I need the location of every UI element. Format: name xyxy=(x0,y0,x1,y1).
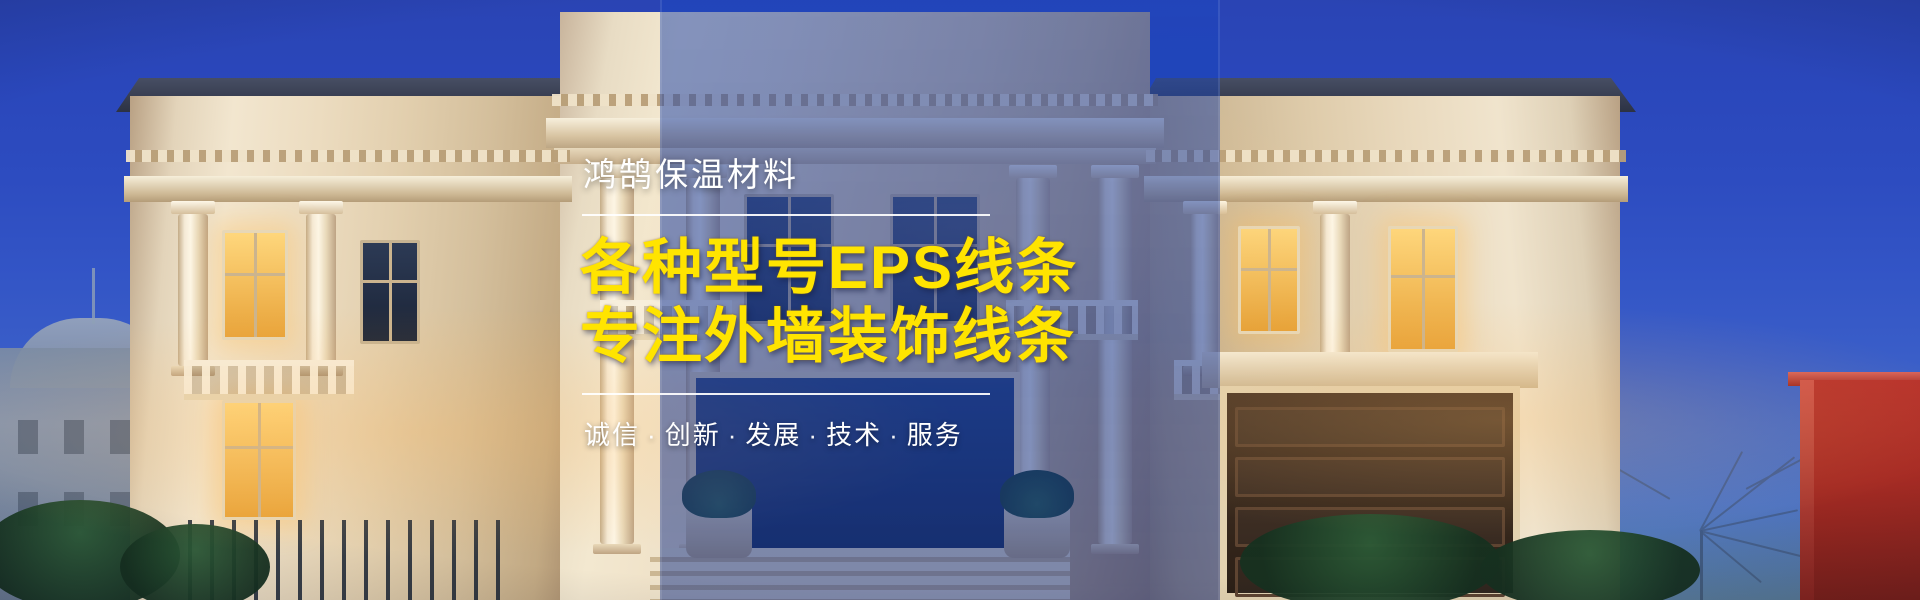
tagline-item: 发展 xyxy=(745,420,801,450)
tagline: 诚信·创新·发展·技术·服务 xyxy=(580,415,963,452)
dentil-moulding xyxy=(126,150,570,162)
divider-top xyxy=(582,214,990,216)
foreground-shrub xyxy=(1480,530,1700,600)
tagline-item: 服务 xyxy=(907,420,963,450)
balustrade xyxy=(184,360,354,400)
distant-window xyxy=(110,420,130,454)
brand-name: 鸿鹄保温材料 xyxy=(580,148,799,196)
column xyxy=(306,214,336,366)
window-lit xyxy=(222,400,296,520)
window-lit xyxy=(1388,226,1458,352)
tagline-separator: · xyxy=(882,420,907,450)
tagline-separator: · xyxy=(721,420,746,450)
distant-antenna xyxy=(92,268,95,324)
distant-window xyxy=(18,420,38,454)
window-lit xyxy=(222,230,288,340)
headline-line-1: 各种型号EPS线条 xyxy=(580,234,1078,302)
left-wing-cornice xyxy=(124,176,572,202)
distant-window xyxy=(64,420,84,454)
column xyxy=(178,214,208,366)
red-structure xyxy=(1800,380,1920,600)
foreground-shrub xyxy=(120,524,270,600)
tagline-separator: · xyxy=(801,420,826,450)
tagline-separator: · xyxy=(640,420,665,450)
banner-content: 鸿鹄保温材料 各种型号EPS线条 专注外墙装饰线条 诚信·创新·发展·技术·服务 xyxy=(555,0,1325,600)
promo-banner: 鸿鹄保温材料 各种型号EPS线条 专注外墙装饰线条 诚信·创新·发展·技术·服务 xyxy=(0,0,1920,600)
window xyxy=(360,240,420,344)
headline-line-2: 专注外墙装饰线条 xyxy=(580,303,1076,371)
tagline-item: 诚信 xyxy=(584,420,640,450)
tagline-item: 技术 xyxy=(826,420,882,450)
tagline-item: 创新 xyxy=(665,420,721,450)
divider-bottom xyxy=(582,393,990,395)
